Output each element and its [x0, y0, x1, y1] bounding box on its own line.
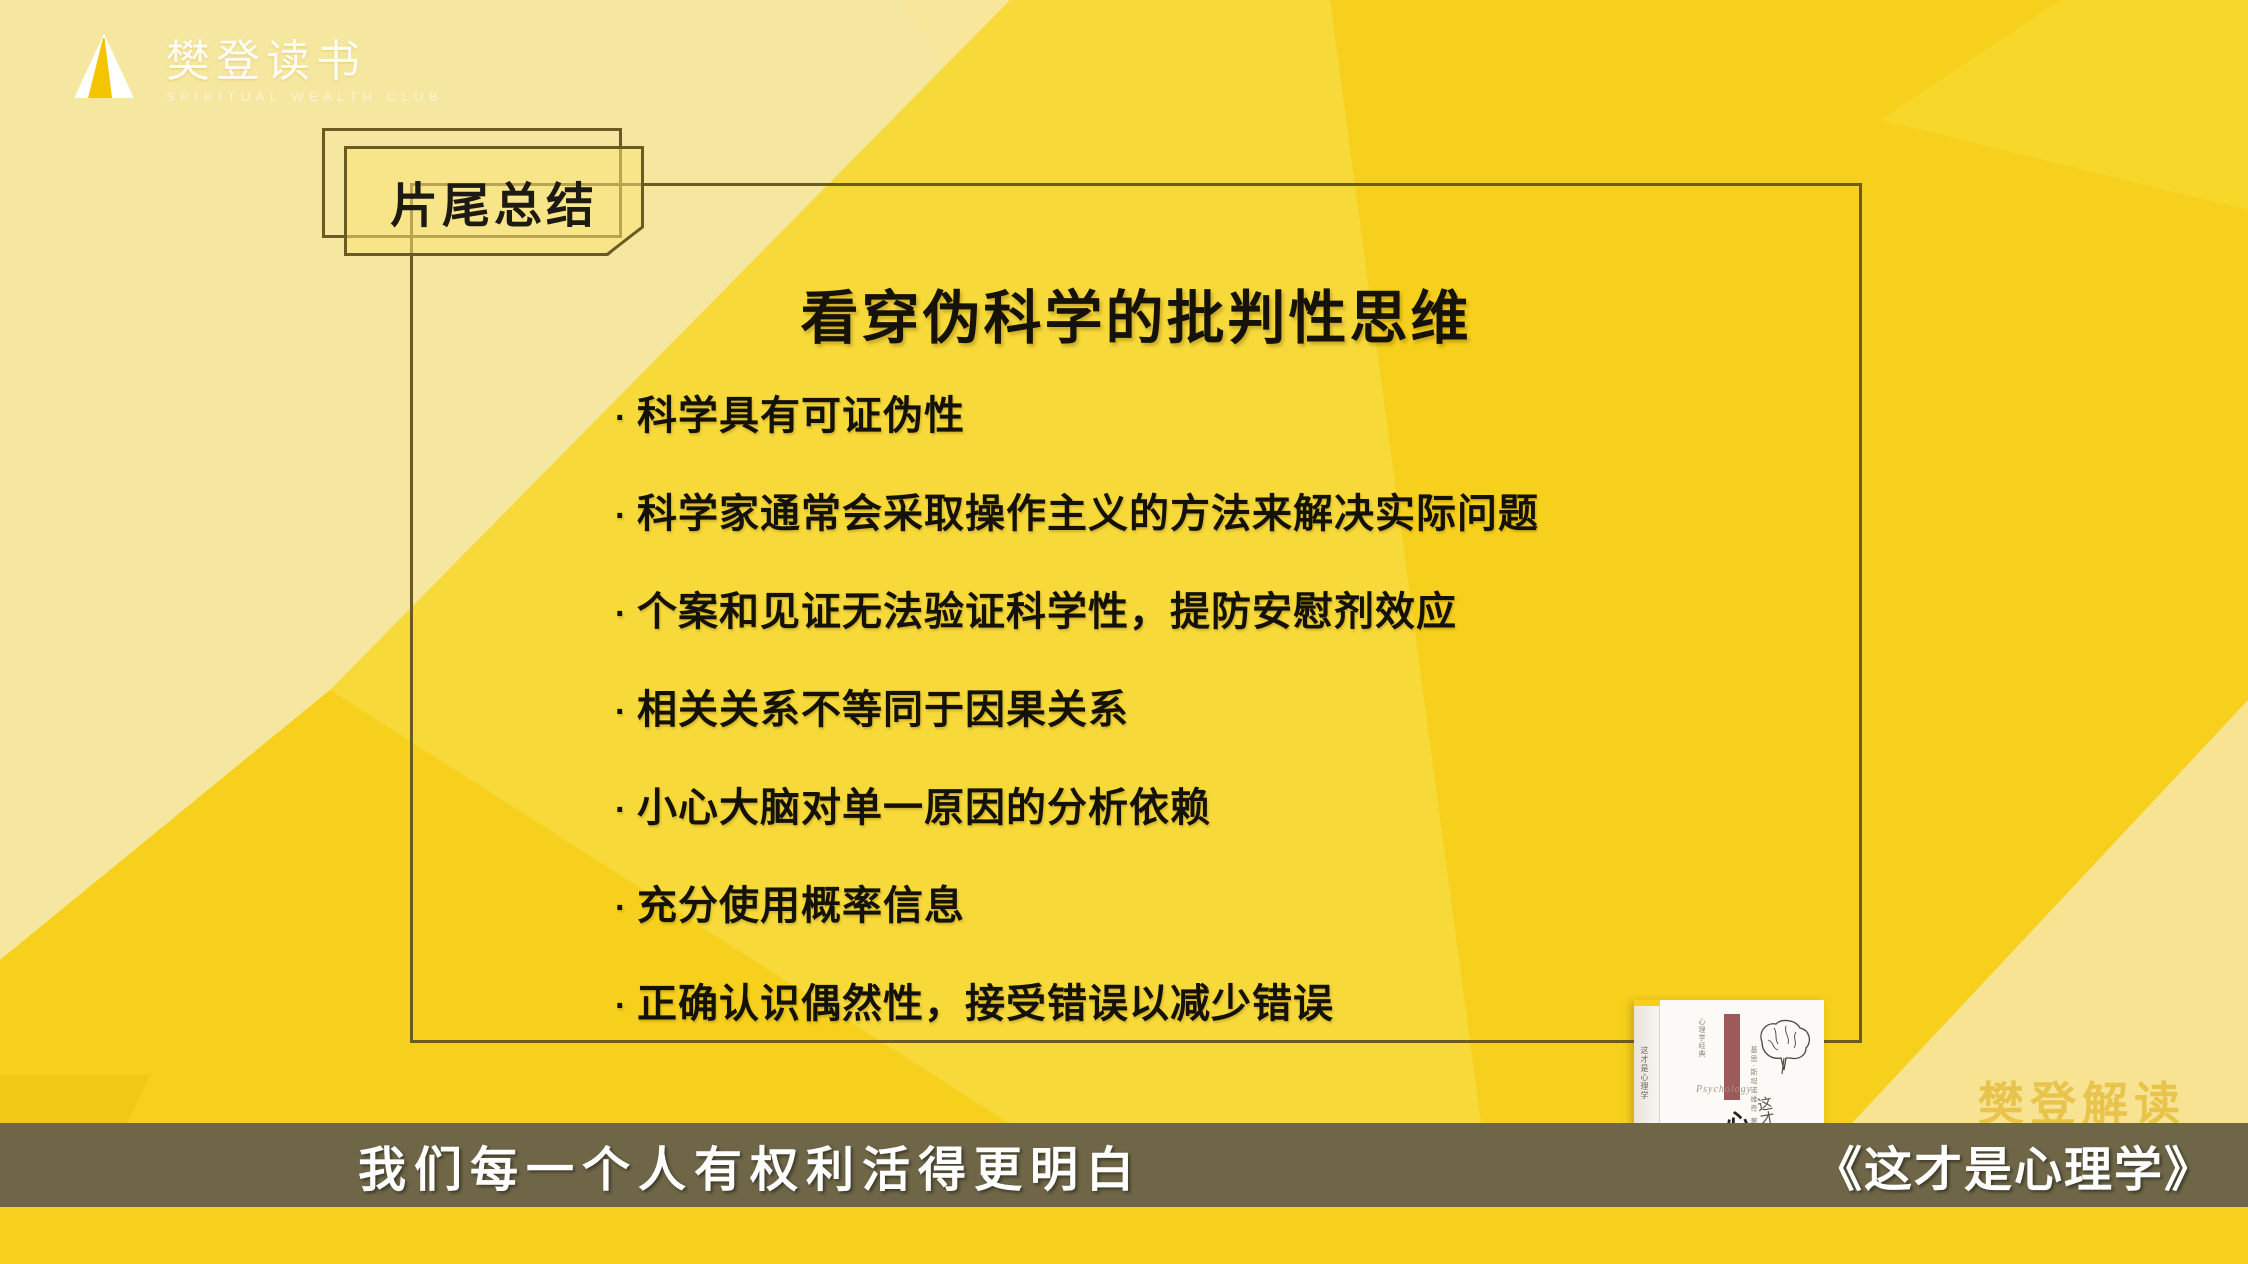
bullet-item: ·小心大脑对单一原因的分析依赖	[615, 775, 1822, 833]
book-spine-text: 这才是心理学	[1639, 1046, 1650, 1100]
bullet-text: 正确认识偶然性，接受错误以减少错误	[637, 971, 1334, 1029]
slide-canvas: 樊登读书 SPIRITUAL WEALTH CLUB 片尾总结 看穿伪科学的批判…	[0, 0, 2248, 1264]
bullet-marker-icon: ·	[615, 891, 637, 925]
book-latin-word: Psychology	[1696, 1084, 1752, 1095]
subtitle-caption: 我们每一个人有权利活得更明白	[0, 1124, 1500, 1206]
bullet-text: 科学家通常会采取操作主义的方法来解决实际问题	[637, 481, 1539, 539]
bullet-item: ·个案和见证无法验证科学性，提防安慰剂效应	[615, 579, 1822, 637]
bullet-marker-icon: ·	[615, 695, 637, 729]
bullet-text: 充分使用概率信息	[637, 873, 965, 931]
bullet-marker-icon: ·	[615, 793, 637, 827]
bullet-item: ·相关关系不等同于因果关系	[615, 677, 1822, 735]
bullet-list: ·科学具有可证伪性·科学家通常会采取操作主义的方法来解决实际问题·个案和见证无法…	[615, 383, 1822, 1069]
book-top-tags: 心理学经典	[1696, 1018, 1706, 1058]
bottom-color-strip	[0, 1207, 2248, 1264]
bullet-item: ·科学家通常会采取操作主义的方法来解决实际问题	[615, 481, 1822, 539]
brain-illustration-icon	[1752, 1016, 1814, 1074]
bullet-marker-icon: ·	[615, 499, 637, 533]
bullet-text: 个案和见证无法验证科学性，提防安慰剂效应	[637, 579, 1457, 637]
slide-content: 看穿伪科学的批判性思维 ·科学具有可证伪性·科学家通常会采取操作主义的方法来解决…	[410, 183, 1862, 1043]
bullet-text: 相关关系不等同于因果关系	[637, 677, 1129, 735]
bullet-text: 科学具有可证伪性	[637, 383, 965, 441]
subtitle-book-title: 《这才是心理学》	[1814, 1124, 2214, 1206]
bullet-item: ·充分使用概率信息	[615, 873, 1822, 931]
bullet-text: 小心大脑对单一原因的分析依赖	[637, 775, 1211, 833]
bullet-marker-icon: ·	[615, 597, 637, 631]
slide-title: 看穿伪科学的批判性思维	[410, 271, 1862, 355]
bullet-item: ·科学具有可证伪性	[615, 383, 1822, 441]
bullet-marker-icon: ·	[615, 401, 637, 435]
bullet-marker-icon: ·	[615, 989, 637, 1023]
